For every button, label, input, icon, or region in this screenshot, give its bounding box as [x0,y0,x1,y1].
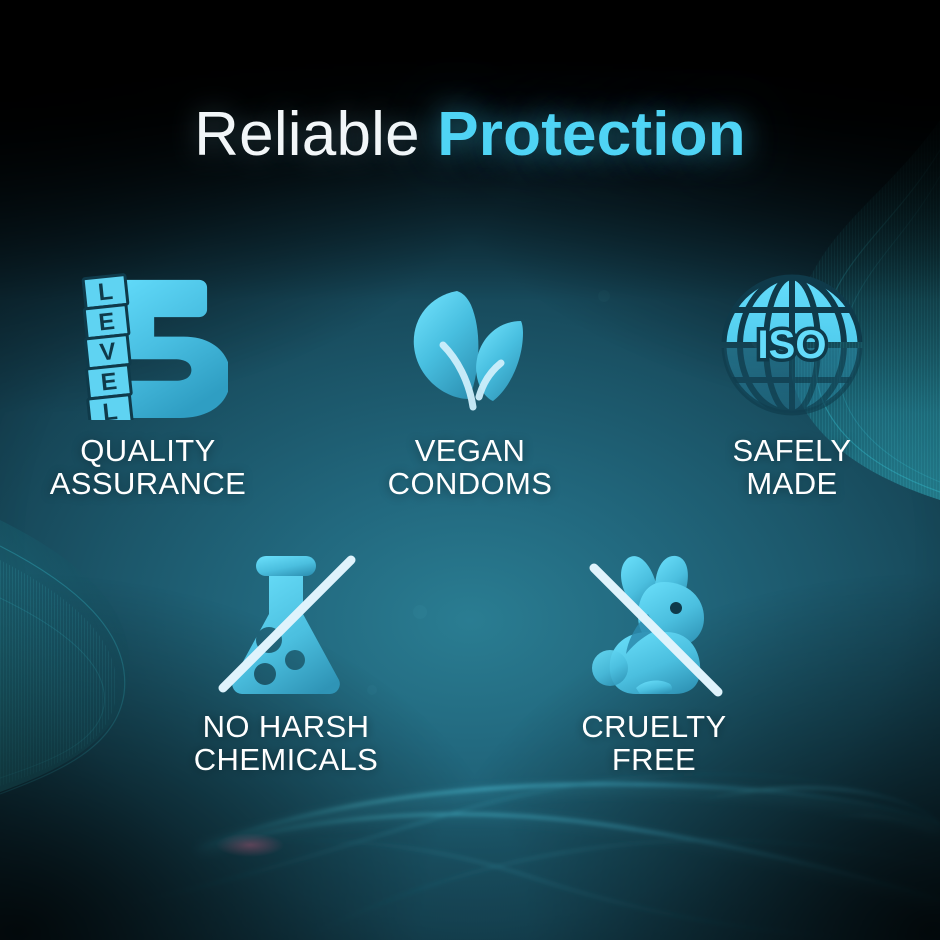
iso-globe-text: ISO [758,323,827,367]
no-flask-icon [211,548,361,700]
feature-label: CRUELTY FREE [581,710,726,777]
title-word-protection: Protection [437,100,746,169]
svg-text:E: E [100,368,119,397]
feature-label: QUALITY ASSURANCE [50,434,247,501]
no-rabbit-icon [578,548,730,700]
svg-text:L: L [101,398,118,420]
feature-row-top: L E V E L QUALITY ASSURANCE [0,270,940,501]
feature-label: NO HARSH CHEMICALS [194,710,378,777]
leaf-icon [395,270,545,420]
feature-quality-assurance: L E V E L QUALITY ASSURANCE [29,270,267,501]
title-word-reliable: Reliable [194,100,420,169]
svg-text:L: L [97,278,114,306]
level-5-badge-icon: L E V E L [68,270,228,420]
feature-row-bottom: NO HARSH CHEMICALS [0,548,940,777]
svg-text:E: E [97,308,116,337]
feature-label: SAFELY MADE [733,434,852,501]
iso-globe-icon: ISO [719,270,865,420]
page-title: Reliable Protection [0,104,940,166]
feature-vegan-condoms: VEGAN CONDOMS [351,270,589,501]
content-layer: Reliable Protection [0,0,940,940]
feature-no-harsh-chemicals: NO HARSH CHEMICALS [167,548,405,777]
svg-text:V: V [98,338,117,367]
feature-cruelty-free: CRUELTY FREE [535,548,773,777]
feature-label: VEGAN CONDOMS [388,434,553,501]
feature-safely-made: ISO SAFELY MADE [673,270,911,501]
promo-graphic: Reliable Protection [0,0,940,940]
